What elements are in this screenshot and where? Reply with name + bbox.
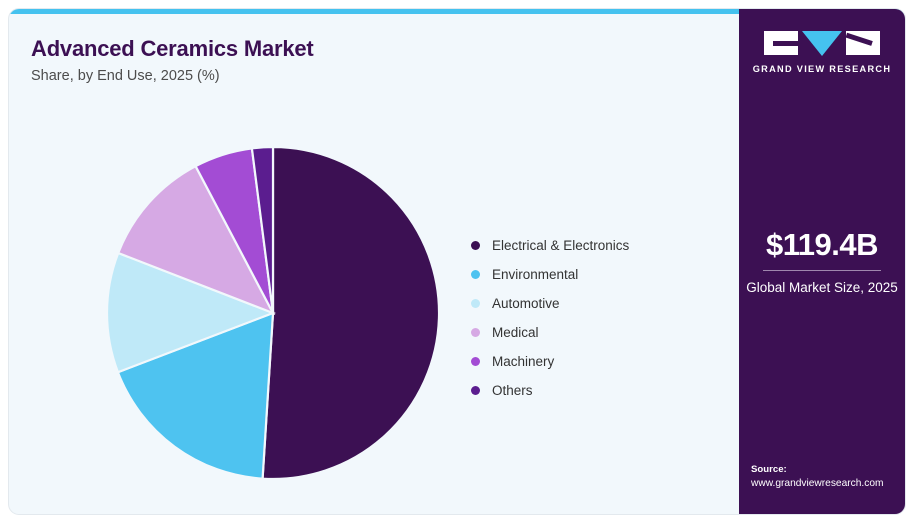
legend-item[interactable]: Medical bbox=[471, 318, 721, 347]
legend-color-swatch bbox=[471, 328, 480, 337]
logo-brand-text: GRAND VIEW RESEARCH bbox=[739, 64, 905, 74]
pie-chart-svg bbox=[101, 141, 446, 486]
legend-item[interactable]: Environmental bbox=[471, 260, 721, 289]
legend-color-swatch bbox=[471, 357, 480, 366]
pie-slice[interactable] bbox=[263, 147, 439, 479]
legend-color-swatch bbox=[471, 386, 480, 395]
legend-item[interactable]: Automotive bbox=[471, 289, 721, 318]
source-label: Source: bbox=[751, 463, 901, 477]
market-size-stat: $119.4B Global Market Size, 2025 bbox=[739, 227, 905, 297]
logo-marks bbox=[739, 31, 905, 57]
logo-right-bracket-icon bbox=[846, 31, 880, 55]
chart-legend: Electrical & ElectronicsEnvironmentalAut… bbox=[471, 231, 721, 405]
side-panel: GRAND VIEW RESEARCH $119.4B Global Marke… bbox=[739, 9, 905, 514]
infographic-root: Advanced Ceramics Market Share, by End U… bbox=[0, 0, 914, 523]
market-size-caption: Global Market Size, 2025 bbox=[739, 279, 905, 297]
legend-item[interactable]: Machinery bbox=[471, 347, 721, 376]
legend-item-label: Others bbox=[492, 383, 533, 398]
legend-color-swatch bbox=[471, 270, 480, 279]
page-title: Advanced Ceramics Market bbox=[31, 37, 551, 62]
logo-left-bracket-icon bbox=[764, 31, 798, 55]
headings-block: Advanced Ceramics Market Share, by End U… bbox=[31, 37, 551, 85]
grand-view-research-logo: GRAND VIEW RESEARCH bbox=[739, 31, 905, 74]
legend-item-label: Medical bbox=[492, 325, 539, 340]
legend-color-swatch bbox=[471, 299, 480, 308]
stat-divider bbox=[763, 270, 881, 271]
page-subtitle: Share, by End Use, 2025 (%) bbox=[31, 68, 551, 85]
logo-triangle-icon bbox=[802, 31, 842, 56]
legend-item-label: Machinery bbox=[492, 354, 554, 369]
pie-chart bbox=[101, 141, 446, 486]
legend-item-label: Electrical & Electronics bbox=[492, 238, 629, 253]
infographic-card: Advanced Ceramics Market Share, by End U… bbox=[9, 9, 905, 514]
source-url: www.grandviewresearch.com bbox=[751, 477, 901, 492]
source-block: Source: www.grandviewresearch.com bbox=[751, 463, 901, 492]
market-size-value: $119.4B bbox=[739, 227, 905, 263]
legend-item[interactable]: Others bbox=[471, 376, 721, 405]
legend-item-label: Environmental bbox=[492, 267, 578, 282]
legend-item-label: Automotive bbox=[492, 296, 560, 311]
legend-color-swatch bbox=[471, 241, 480, 250]
legend-item[interactable]: Electrical & Electronics bbox=[471, 231, 721, 260]
